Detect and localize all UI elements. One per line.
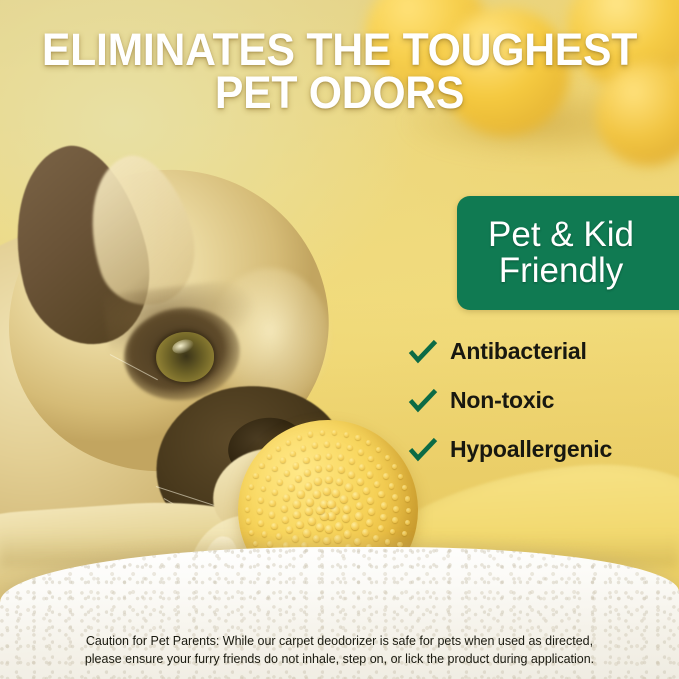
caution-line-2: please ensure your furry friends do not …: [16, 650, 663, 668]
ball-nub: [357, 478, 364, 485]
ball-nub: [345, 483, 353, 491]
ball-nub: [327, 500, 336, 509]
badge-line-1: Pet & Kid: [488, 217, 634, 253]
ball-nub: [305, 507, 313, 515]
ball-nub: [293, 462, 299, 468]
check-icon: [408, 437, 438, 463]
feature-item-non-toxic: Non-toxic: [408, 387, 679, 414]
ball-nub: [308, 517, 316, 525]
ball-nub: [293, 500, 301, 508]
feature-label: Antibacterial: [450, 338, 587, 365]
ball-nub: [349, 458, 356, 465]
ball-nub: [383, 473, 389, 479]
ball-nub: [392, 494, 398, 500]
ball-nub: [406, 508, 411, 513]
product-feature-banner: ELIMINATES THE TOUGHEST PET ODORS Pet & …: [0, 0, 679, 679]
ball-nub: [351, 522, 359, 530]
ball-nub: [405, 496, 410, 501]
ball-nub: [352, 492, 360, 500]
ball-nub: [342, 514, 350, 522]
page-title: ELIMINATES THE TOUGHEST PET ODORS: [17, 28, 662, 114]
ball-nub: [355, 435, 360, 440]
ball-nub: [259, 463, 264, 468]
ball-nub: [305, 482, 313, 490]
ball-nub: [336, 442, 342, 448]
badge-line-2: Friendly: [488, 253, 634, 289]
ball-nub: [359, 464, 365, 470]
badge-label: Pet & Kid Friendly: [488, 217, 666, 288]
feature-item-hypoallergenic: Hypoallergenic: [408, 436, 679, 463]
feature-label: Non-toxic: [450, 387, 554, 414]
ball-nub: [293, 511, 301, 519]
caution-text: Caution for Pet Parents: While our carpe…: [0, 632, 679, 668]
ball-nub: [288, 484, 295, 491]
ball-nub: [308, 431, 313, 436]
ball-nub: [335, 522, 343, 530]
ball-nub: [323, 487, 331, 495]
ball-nub: [380, 514, 386, 520]
ball-nub: [348, 471, 355, 478]
ball-nub: [282, 516, 289, 523]
check-icon: [408, 388, 438, 414]
feature-item-antibacterial: Antibacterial: [408, 338, 679, 365]
ball-nub: [258, 520, 264, 526]
ball-nub: [246, 518, 251, 523]
ball-nub: [257, 508, 263, 514]
ball-nub: [378, 525, 384, 531]
ball-nub: [314, 454, 321, 461]
ball-nub: [271, 523, 277, 529]
ball-nub: [374, 481, 380, 487]
ball-nub: [338, 466, 345, 473]
ball-nub: [358, 449, 364, 455]
ball-nub: [355, 512, 363, 520]
feature-list: Antibacterial Non-toxic Hypoallergenic: [408, 338, 679, 463]
ball-nub: [316, 523, 324, 531]
ball-nub: [290, 451, 296, 457]
headline-line-2: PET ODORS: [42, 71, 638, 114]
caution-line-1: Caution for Pet Parents: While our carpe…: [16, 632, 663, 650]
ball-nub: [312, 442, 318, 448]
ball-nub: [405, 520, 410, 525]
ball-nub: [314, 477, 322, 485]
ball-nub: [283, 494, 290, 501]
ball-nub: [344, 432, 349, 437]
ball-nub: [253, 473, 258, 478]
ball-nub: [258, 497, 264, 503]
ball-nub: [286, 440, 291, 445]
ball-nub: [281, 505, 288, 512]
pet-kid-friendly-badge: Pet & Kid Friendly: [457, 196, 679, 310]
ball-nub: [324, 441, 330, 447]
ball-nub: [315, 465, 322, 472]
ball-nub: [325, 476, 333, 484]
feature-label: Hypoallergenic: [450, 436, 612, 463]
ball-nub: [368, 456, 374, 462]
ball-nub: [297, 435, 302, 440]
ball-nub: [297, 490, 305, 498]
ball-nub: [381, 502, 387, 508]
ball-nub: [393, 506, 399, 512]
headline-line-1: ELIMINATES THE TOUGHEST: [42, 28, 638, 71]
check-icon: [408, 339, 438, 365]
ball-nub: [303, 457, 310, 464]
ball-nub: [385, 455, 390, 460]
